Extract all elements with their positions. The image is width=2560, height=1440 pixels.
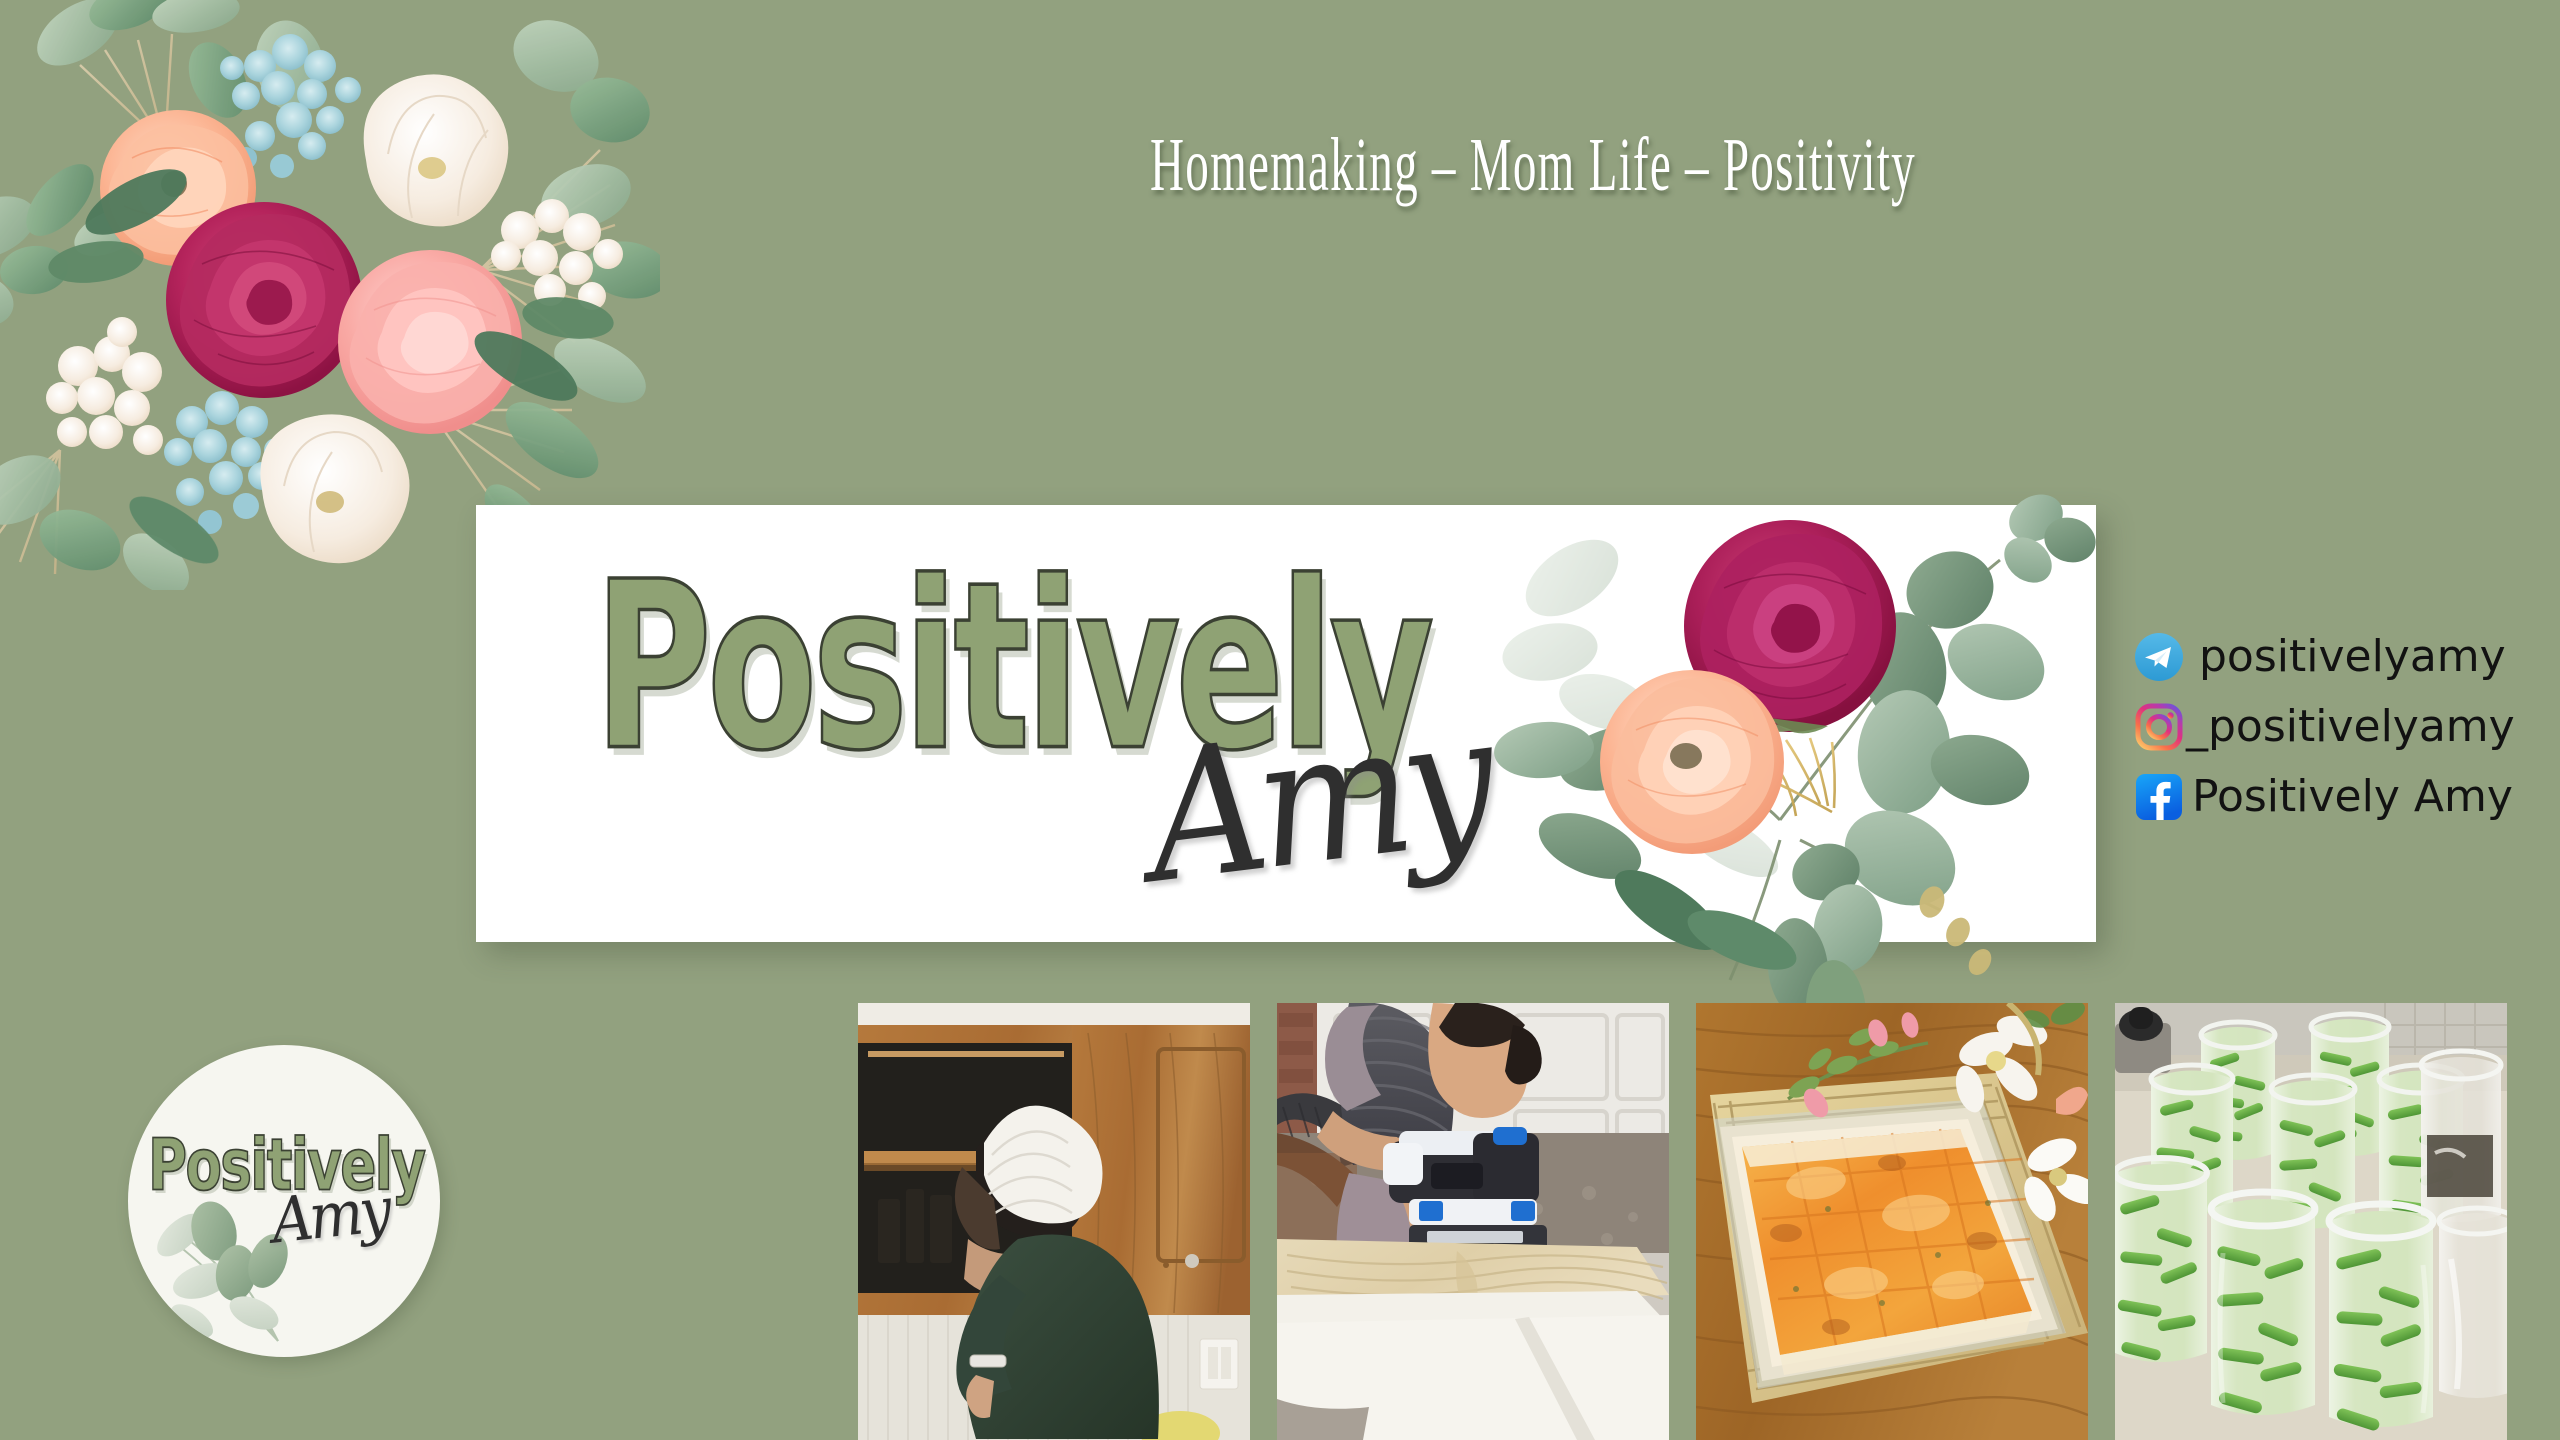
facebook-handle: Positively Amy [2192,775,2513,819]
brand-logo-circle[interactable]: Positively Amy [128,1045,440,1357]
instagram-handle: _positivelyamy [2186,705,2515,749]
thumbnail-canned-greenbeans[interactable] [2115,1003,2507,1440]
thumbnail-strip [858,1003,2507,1440]
social-link-instagram[interactable]: _positivelyamy [2133,692,2515,762]
brand-banner: Positively Amy [476,505,2096,942]
logo-script-name: Amy [268,1173,391,1258]
thumbnail-image-4 [2115,1003,2507,1440]
social-links: positivelyamy _positivelyamy [2133,622,2515,832]
page-tagline: Homemaking – Mom Life – Positivity [1150,122,1916,209]
thumbnail-nail-gun-diy[interactable] [1277,1003,1669,1440]
brand-banner-inner: Positively Amy [476,505,2096,942]
thumbnail-image-3 [1696,1003,2088,1440]
telegram-icon[interactable] [2133,631,2185,683]
thumbnail-image-1 [858,1003,1250,1440]
telegram-handle: positivelyamy [2199,635,2506,679]
brand-script-name: Amy [1136,676,1497,923]
banner-canvas: Homemaking – Mom Life – Positivity Posit… [0,0,2560,1440]
thumbnail-kitchen-cabinets[interactable] [858,1003,1250,1440]
floral-bouquet-top-left [0,0,660,590]
thumbnail-cheesy-casserole[interactable] [1696,1003,2088,1440]
thumbnail-image-2 [1277,1003,1669,1440]
social-link-telegram[interactable]: positivelyamy [2133,622,2515,692]
social-link-facebook[interactable]: Positively Amy [2133,762,2515,832]
instagram-icon[interactable] [2133,701,2185,753]
facebook-icon[interactable] [2133,771,2185,823]
